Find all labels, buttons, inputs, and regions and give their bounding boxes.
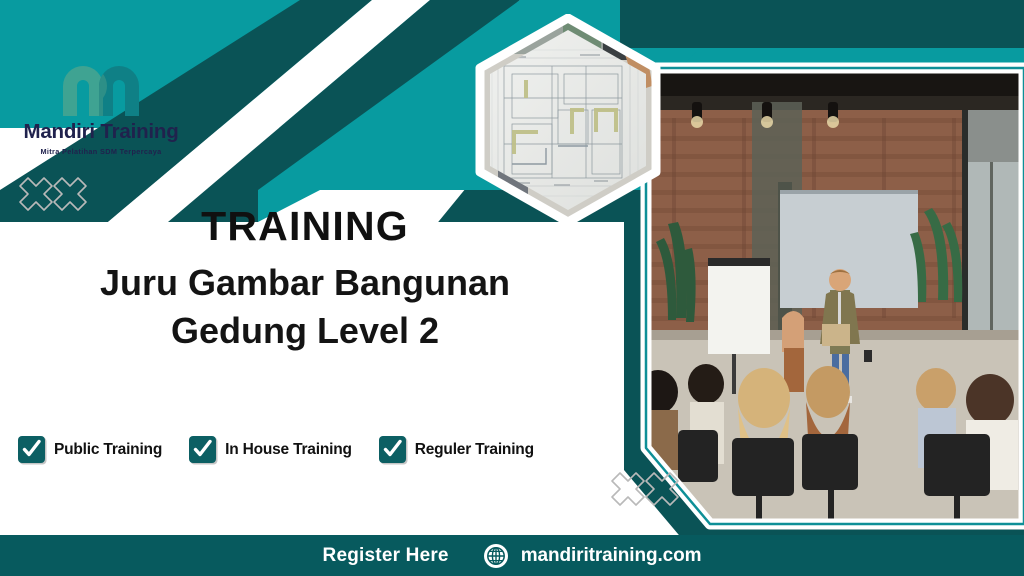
brand-logo[interactable]: Mandiri Training Mitra Pelatihan SDM Ter… xyxy=(16,58,186,156)
register-here-label: Register Here xyxy=(323,545,449,567)
option-in-house-training[interactable]: In House Training xyxy=(189,436,352,463)
blueprint-hex-photo xyxy=(468,14,668,226)
brand-tagline: Mitra Pelatihan SDM Terpercaya xyxy=(16,147,186,156)
mandiri-m-monogram-icon xyxy=(55,58,147,118)
website-url: mandiritraining.com xyxy=(521,545,702,567)
hex-blueprint-inner xyxy=(468,14,668,226)
website-group[interactable]: mandiritraining.com xyxy=(483,543,702,569)
check-icon xyxy=(382,439,403,460)
brand-name: Mandiri Training xyxy=(16,121,186,143)
globe-icon xyxy=(483,543,509,569)
checkbox-in-house-training[interactable] xyxy=(189,436,216,463)
raised-hand xyxy=(782,311,804,392)
check-icon xyxy=(192,439,213,460)
checkbox-public-training[interactable] xyxy=(18,436,45,463)
training-options: Public Training In House Training Regule… xyxy=(18,436,534,463)
training-room-photo xyxy=(632,62,1024,530)
option-reguler-training[interactable]: Reguler Training xyxy=(379,436,534,463)
check-icon xyxy=(21,439,42,460)
footer-bar: Register Here mandiritraining.com xyxy=(0,535,1024,576)
headline-block: TRAINING Juru Gambar Bangunan Gedung Lev… xyxy=(0,206,610,354)
page-title-line2: Gedung Level 2 xyxy=(0,307,610,355)
option-label: Public Training xyxy=(54,441,162,459)
option-label: Reguler Training xyxy=(415,441,534,459)
poster-canvas: Mandiri Training Mitra Pelatihan SDM Ter… xyxy=(0,0,1024,576)
option-label: In House Training xyxy=(225,441,352,459)
checkbox-reguler-training[interactable] xyxy=(379,436,406,463)
page-kicker: TRAINING xyxy=(0,206,610,247)
page-title-line1: Juru Gambar Bangunan xyxy=(0,259,610,307)
photo-content xyxy=(632,62,1024,530)
option-public-training[interactable]: Public Training xyxy=(18,436,162,463)
page-title: Juru Gambar Bangunan Gedung Level 2 xyxy=(0,259,610,354)
